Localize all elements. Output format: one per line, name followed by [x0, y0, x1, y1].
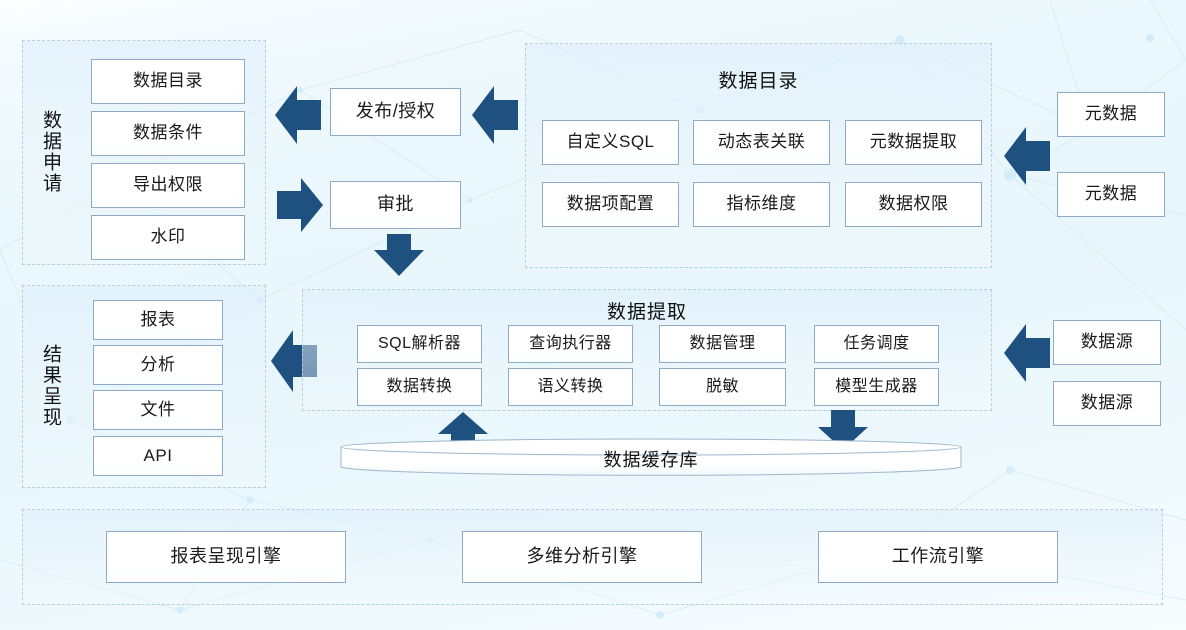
- approve-box[interactable]: 审批: [330, 181, 461, 229]
- data-extract-item-6[interactable]: 脱敏: [659, 368, 786, 406]
- data-request-item-0-label: 数据目录: [133, 72, 203, 91]
- data-catalog-panel-title: 数据目录: [525, 66, 992, 93]
- result-presentation-panel-label: 结果呈现: [32, 296, 68, 476]
- result-item-0-label: 报表: [141, 311, 176, 330]
- data-extract-item-7-label: 模型生成器: [835, 378, 918, 396]
- metadata-source-0-label: 元数据: [1085, 105, 1138, 124]
- engine-item-2-label: 工作流引擎: [892, 547, 985, 567]
- approve-label: 审批: [377, 195, 414, 215]
- data-extract-item-3-label: 任务调度: [843, 335, 909, 353]
- data-catalog-item-2[interactable]: 元数据提取: [845, 120, 982, 165]
- result-item-2-label: 文件: [141, 401, 176, 420]
- data-request-item-3[interactable]: 水印: [91, 215, 245, 260]
- data-request-item-1[interactable]: 数据条件: [91, 111, 245, 156]
- result-item-3[interactable]: API: [93, 436, 223, 476]
- result-item-0[interactable]: 报表: [93, 300, 223, 340]
- data-request-item-2-label: 导出权限: [133, 176, 203, 195]
- data-extract-item-6-label: 脱敏: [706, 378, 739, 396]
- engine-item-0[interactable]: 报表呈现引擎: [106, 531, 346, 583]
- data-catalog-item-5-label: 数据权限: [879, 195, 949, 214]
- metadata-source-1-label: 元数据: [1085, 185, 1138, 204]
- data-catalog-item-1[interactable]: 动态表关联: [693, 120, 830, 165]
- data-catalog-item-3-label: 数据项配置: [567, 195, 655, 214]
- result-item-1-label: 分析: [141, 356, 176, 375]
- arrow-left-publish-to-request: [275, 84, 321, 146]
- data-request-item-3-label: 水印: [151, 228, 186, 247]
- publish-authorize-box[interactable]: 发布/授权: [330, 88, 461, 136]
- engine-item-1[interactable]: 多维分析引擎: [462, 531, 702, 583]
- data-catalog-item-4[interactable]: 指标维度: [693, 182, 830, 227]
- data-extract-item-4[interactable]: 数据转换: [357, 368, 482, 406]
- publish-authorize-label: 发布/授权: [356, 102, 436, 122]
- arrow-right-request-to-approve: [277, 176, 323, 234]
- data-extract-item-7[interactable]: 模型生成器: [814, 368, 939, 406]
- data-extract-item-2-label: 数据管理: [689, 335, 755, 353]
- data-request-item-2[interactable]: 导出权限: [91, 163, 245, 208]
- data-source-1-label: 数据源: [1081, 394, 1134, 413]
- data-source-0[interactable]: 数据源: [1053, 320, 1161, 365]
- engine-item-0-label: 报表呈现引擎: [171, 547, 282, 567]
- data-catalog-item-1-label: 动态表关联: [718, 133, 806, 152]
- arrow-down-approve-to-extract: [373, 234, 425, 276]
- arrow-left-catalog-to-publish: [472, 84, 518, 146]
- data-extract-item-5-label: 语义转换: [537, 378, 603, 396]
- data-extract-item-1[interactable]: 查询执行器: [508, 325, 633, 363]
- metadata-source-1[interactable]: 元数据: [1057, 172, 1165, 217]
- engine-item-2[interactable]: 工作流引擎: [818, 531, 1058, 583]
- metadata-source-0[interactable]: 元数据: [1057, 92, 1165, 137]
- arrow-left-datasource-to-extract: [1004, 322, 1050, 384]
- data-extract-item-2[interactable]: 数据管理: [659, 325, 786, 363]
- data-catalog-item-0[interactable]: 自定义SQL: [542, 120, 679, 165]
- data-extract-item-0-label: SQL解析器: [378, 335, 461, 353]
- data-cache-label: 数据缓存库: [340, 446, 962, 472]
- arrow-left-metadata-to-catalog: [1004, 125, 1050, 187]
- data-cache-cylinder[interactable]: 数据缓存库: [340, 438, 962, 476]
- data-extract-item-4-label: 数据转换: [386, 378, 452, 396]
- data-request-item-1-label: 数据条件: [133, 124, 203, 143]
- data-extract-item-0[interactable]: SQL解析器: [357, 325, 482, 363]
- data-catalog-item-4-label: 指标维度: [727, 195, 797, 214]
- architecture-diagram-canvas: 数据申请 数据目录 数据条件 导出权限 水印 发布/授权 审批 数据目录 自定义…: [0, 0, 1186, 630]
- data-request-panel-label: 数据申请: [32, 52, 68, 252]
- data-extract-panel-title: 数据提取: [302, 297, 992, 324]
- data-catalog-item-5[interactable]: 数据权限: [845, 182, 982, 227]
- engine-item-1-label: 多维分析引擎: [527, 547, 638, 567]
- data-source-1[interactable]: 数据源: [1053, 381, 1161, 426]
- result-item-1[interactable]: 分析: [93, 345, 223, 385]
- data-extract-item-3[interactable]: 任务调度: [814, 325, 939, 363]
- result-item-2[interactable]: 文件: [93, 390, 223, 430]
- data-extract-item-5[interactable]: 语义转换: [508, 368, 633, 406]
- data-extract-item-1-label: 查询执行器: [529, 335, 612, 353]
- data-catalog-item-0-label: 自定义SQL: [566, 133, 654, 152]
- data-catalog-item-2-label: 元数据提取: [870, 133, 958, 152]
- data-request-item-0[interactable]: 数据目录: [91, 59, 245, 104]
- data-catalog-item-3[interactable]: 数据项配置: [542, 182, 679, 227]
- data-source-0-label: 数据源: [1081, 333, 1134, 352]
- result-item-3-label: API: [144, 447, 173, 466]
